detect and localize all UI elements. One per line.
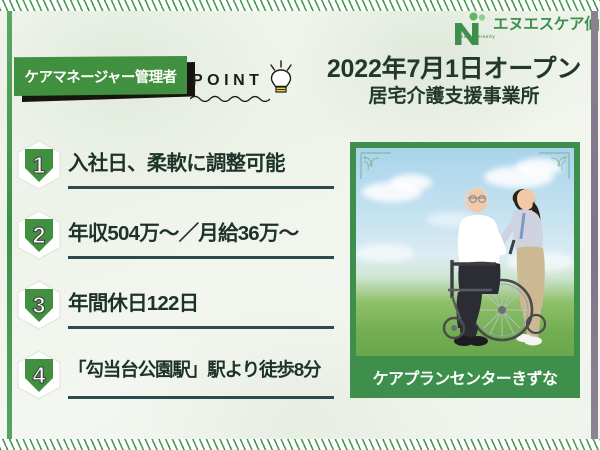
job-type-banner-body: ケアマネージャー管理者	[14, 56, 187, 96]
point-divider-3	[68, 326, 334, 329]
point-text-2: 年収504万～／月給36万～	[68, 216, 298, 246]
photo-corner-ornament-left	[359, 151, 393, 181]
badge-number-3: 3	[33, 292, 46, 318]
company-logo: エヌエスケア仙台 Nexus Serenity	[452, 12, 600, 48]
point-divider-1	[68, 186, 334, 189]
point-divider-4	[68, 396, 334, 399]
lightbulb-icon	[266, 60, 296, 100]
nexus-n-logo-icon	[452, 12, 486, 48]
right-edge-bar	[591, 11, 598, 439]
photo-caption-text: ケアプランセンターきずな	[373, 365, 558, 389]
point-number-badge-3: 3	[16, 280, 62, 330]
badge-number-1: 1	[33, 152, 46, 178]
point-text-1: 入社日、柔軟に調整可能	[68, 146, 285, 176]
point-divider-2	[68, 256, 334, 259]
point-wavy-underline	[190, 94, 270, 102]
point-label: POINT	[192, 72, 263, 90]
headline-office-type: 居宅介護支援事業所	[318, 86, 590, 107]
point-text-3: 年間休日122日	[68, 286, 198, 316]
photo-caption: ケアプランセンターきずな	[356, 356, 574, 398]
point-number-badge-4: 4	[16, 350, 62, 400]
list-item: 3 年間休日122日	[16, 272, 334, 342]
facility-photo	[356, 148, 574, 356]
logo-company-name: エヌエスケア仙台	[493, 17, 600, 33]
badge-number-4: 4	[33, 362, 46, 388]
list-item: 1 入社日、柔軟に調整可能	[16, 132, 334, 202]
point-number-badge-2: 2	[16, 210, 62, 260]
job-advertisement-poster: エヌエスケア仙台 Nexus Serenity 2022年7月1日オープン 居宅…	[0, 0, 600, 450]
point-number-badge-1: 1	[16, 140, 62, 190]
point-heading: POINT	[190, 60, 302, 108]
top-hatch-border	[0, 0, 600, 11]
facility-photo-card: ケアプランセンターきずな	[350, 142, 580, 398]
list-item: 2 年収504万～／月給36万～	[16, 202, 334, 272]
photo-corner-ornament-right	[537, 151, 571, 181]
badge-number-2: 2	[33, 222, 46, 248]
left-green-edge-bar	[7, 11, 12, 439]
job-type-banner: ケアマネージャー管理者	[14, 56, 194, 104]
list-item: 4 「勾当台公園駅」駅より徒歩8分	[16, 342, 334, 412]
job-type-label: ケアマネージャー管理者	[25, 66, 177, 87]
headline-open-date: 2022年7月1日オープン	[318, 55, 590, 83]
wheelchair-scene-illustration	[418, 178, 568, 356]
headline: 2022年7月1日オープン 居宅介護支援事業所	[318, 55, 590, 107]
bottom-hatch-border	[0, 439, 600, 450]
point-text-4: 「勾当台公園駅」駅より徒歩8分	[68, 356, 320, 382]
points-list: 1 入社日、柔軟に調整可能 2 年収504万～／月給36万～	[16, 132, 334, 412]
